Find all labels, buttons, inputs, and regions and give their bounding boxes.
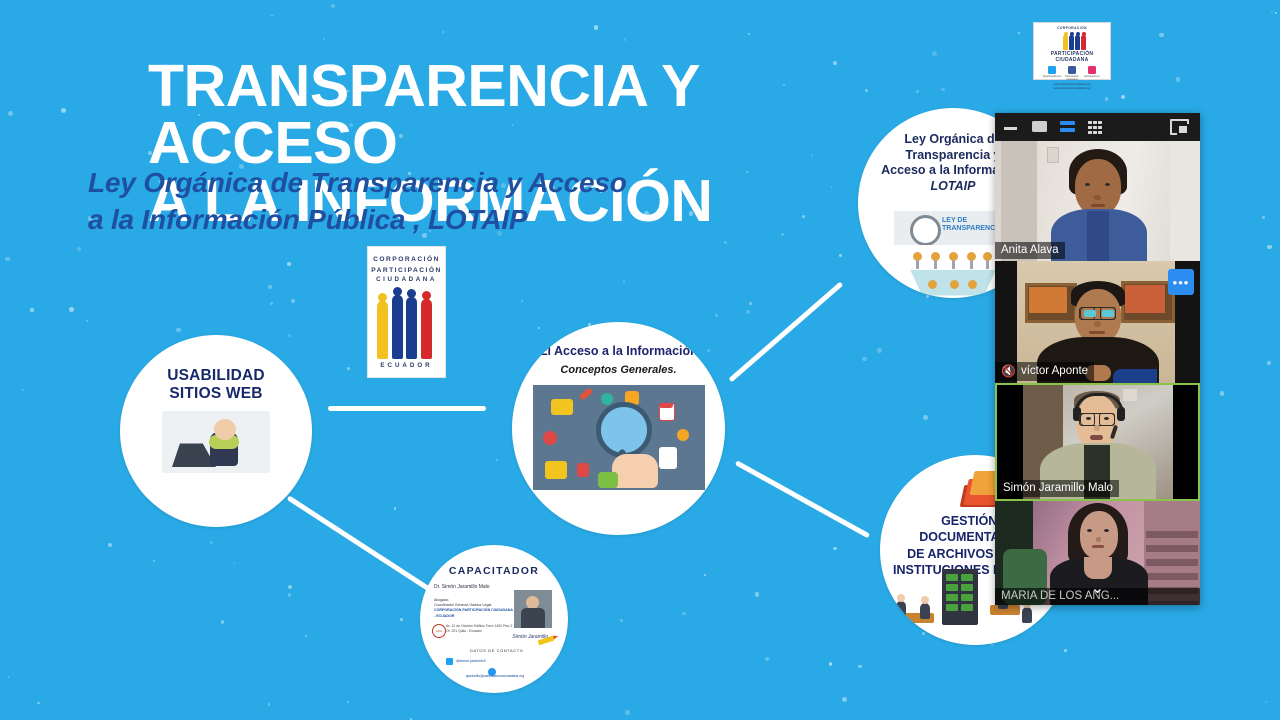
instagram-icon: participacionec: [1083, 66, 1101, 81]
capacitador-name: Dr. Simón Jaramillo Malo: [434, 584, 490, 590]
participant-name-tag: Anita Alava: [995, 242, 1065, 259]
participant-name: Simón Jaramillo Malo: [1003, 482, 1113, 494]
subtitle-line-1: Ley Orgánica de Transparencia y Acceso: [88, 165, 748, 202]
header-brand-line-1: CORPORACIÓN: [1034, 26, 1110, 30]
connector-usabilidad-acceso: [328, 406, 486, 411]
picture-in-picture-icon[interactable]: [1170, 119, 1189, 135]
seal-icon: CPC: [432, 624, 446, 638]
connector-acceso-lotaip: [728, 282, 843, 383]
slide-stage: TRANSPARENCIA Y ACCESO A LA INFORMACIÓN …: [0, 0, 1280, 720]
more-options-button[interactable]: •••: [1168, 269, 1194, 295]
magnifying-glass-icon: [533, 385, 705, 490]
single-view-icon[interactable]: [1032, 121, 1047, 133]
capacitador-photo: [514, 590, 552, 628]
minimize-icon[interactable]: [1004, 121, 1019, 133]
participant-name-tag: Simón Jaramillo Malo: [997, 480, 1119, 497]
connector-acceso-gestion: [735, 460, 870, 538]
participant-tile[interactable]: MARIA DE LOS ANG... ⌄: [995, 501, 1200, 605]
header-social-row: @participacionec Participación Ciudadana…: [1034, 66, 1110, 81]
brand-country: ECUADOR: [368, 362, 445, 369]
people-pool-illustration: [898, 250, 1008, 296]
capacitador-business-card: Dr. Simón Jaramillo Malo Abogado Coordin…: [430, 582, 558, 678]
participant-tile[interactable]: Anita Alava: [995, 141, 1200, 261]
node-usabilidad-sitios-web[interactable]: USABILIDAD SITIOS WEB: [120, 335, 312, 527]
brand-figures-icon: [368, 287, 445, 361]
node-acceso-heading: El Acceso a la Información: [539, 344, 698, 358]
chevron-down-icon[interactable]: ⌄: [1091, 581, 1104, 597]
baby-laptop-image: [162, 411, 270, 473]
brand-line-1: CORPORACIÓN: [368, 255, 445, 266]
brand-line-2: PARTICIPACIÓN: [368, 266, 445, 277]
split-view-icon[interactable]: [1060, 121, 1075, 133]
participant-name-tag: 🔇 víctor Aponte: [995, 362, 1094, 381]
capacitador-email: sjaramillo@participacionciudadana.org: [440, 674, 550, 678]
header-logo-card: CORPORACIÓN PARTICIPACIÓN CIUDADANA @par…: [1033, 22, 1111, 80]
subtitle-line-2: a la Información Pública , LOTAIP: [88, 202, 748, 239]
capacitador-twitter: @simon.jaramillo9: [456, 659, 486, 663]
page-subtitle: Ley Orgánica de Transparencia y Acceso a…: [88, 165, 748, 239]
participant-tile[interactable]: ••• 🔇 víctor Aponte: [995, 261, 1200, 383]
grid-view-icon[interactable]: [1088, 121, 1103, 133]
twitter-icon: [446, 658, 453, 665]
video-call-toolbar[interactable]: [995, 113, 1200, 141]
participant-name: Anita Alava: [1001, 244, 1059, 256]
header-brand-line-2: PARTICIPACIÓN CIUDADANA: [1034, 51, 1110, 63]
video-call-panel[interactable]: Anita Alava: [995, 113, 1200, 605]
participant-name: víctor Aponte: [1021, 365, 1088, 377]
facebook-icon: Participación Ciudadana: [1063, 66, 1081, 81]
header-url-2: www.participacionciudadana.org: [1034, 87, 1110, 91]
muted-microphone-icon: 🔇: [1001, 364, 1016, 378]
brand-logo-card: CORPORACIÓN PARTICIPACIÓN CIUDADANA ECUA…: [367, 246, 446, 378]
title-line-1: TRANSPARENCIA Y ACCESO: [148, 53, 699, 177]
node-acceso-subheading: Conceptos Generales.: [560, 364, 676, 376]
participant-tile-active-speaker[interactable]: Simón Jaramillo Malo: [995, 383, 1200, 501]
twitter-icon: @participacionec: [1043, 66, 1061, 81]
node-capacitador[interactable]: CAPACITADOR Dr. Simón Jaramillo Malo Abo…: [420, 545, 568, 693]
capacitador-role: Abogado Coordinador General / Asesor Leg…: [434, 598, 514, 619]
contact-title: DATOS DE CONTACTO: [470, 648, 523, 653]
node-acceso-a-la-informacion[interactable]: El Acceso a la Información Conceptos Gen…: [512, 322, 725, 535]
brand-line-3: CIUDADANA: [368, 276, 445, 283]
node-capacitador-heading: CAPACITADOR: [449, 565, 539, 577]
capacitador-contact-block: Av. 12 de Octubre Edificio Torre 1492 Pi…: [446, 624, 516, 634]
header-brand-figures-icon: [1034, 32, 1110, 50]
node-usabilidad-heading: USABILIDAD SITIOS WEB: [167, 367, 265, 403]
